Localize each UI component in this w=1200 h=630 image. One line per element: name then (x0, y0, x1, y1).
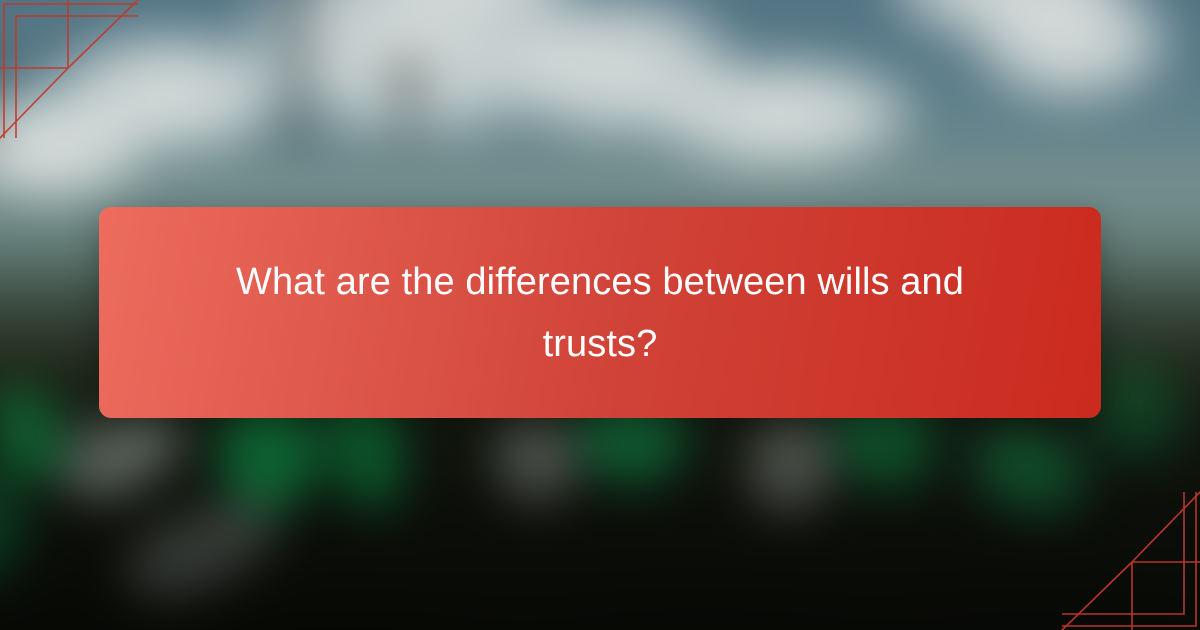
question-card: What are the differences between wills a… (99, 207, 1101, 418)
og-image-canvas: What are the differences between wills a… (0, 0, 1200, 630)
page-title: What are the differences between wills a… (220, 251, 980, 375)
